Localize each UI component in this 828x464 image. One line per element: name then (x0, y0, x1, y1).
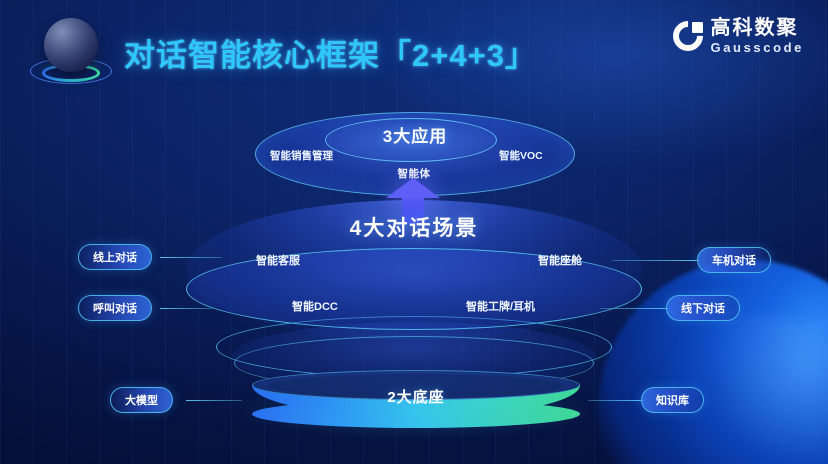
application-item-sales[interactable]: 智能销售管理 (270, 148, 333, 163)
base-title: 2大底座 (252, 386, 580, 407)
scene-item-cockpit[interactable]: 智能座舱 (538, 252, 582, 268)
channel-pill-invehicle[interactable]: 车机对话 (697, 247, 771, 273)
connector-line-online (160, 257, 222, 258)
slide-canvas: 对话智能核心框架「2+4+3」 高科数聚 Gausscode 3大应用 智能销售… (0, 0, 828, 464)
base-pill-knowledge-base[interactable]: 知识库 (641, 387, 704, 413)
base-pill-large-model[interactable]: 大模型 (110, 387, 173, 413)
channel-pill-offline[interactable]: 线下对话 (666, 295, 740, 321)
channel-pill-online[interactable]: 线上对话 (78, 244, 152, 270)
application-item-voc[interactable]: 智能VOC (499, 148, 543, 163)
connector-line-offline (600, 308, 670, 309)
framework-diagram: 3大应用 智能销售管理 智能VOC 智能体 4大对话场景 智能客服 智能座舱 智… (0, 0, 828, 464)
scenes-title: 4大对话场景 (0, 212, 828, 242)
scene-item-badge-headset[interactable]: 智能工牌/耳机 (466, 298, 535, 314)
scene-item-dcc[interactable]: 智能DCC (292, 298, 338, 314)
channel-pill-call[interactable]: 呼叫对话 (78, 295, 152, 321)
connector-line-llm (186, 400, 242, 401)
connector-line-invehicle (612, 260, 700, 261)
connector-line-kb (588, 400, 644, 401)
applications-title: 3大应用 (255, 122, 575, 147)
scene-item-customer-service[interactable]: 智能客服 (256, 252, 300, 268)
connector-line-call (160, 308, 212, 309)
